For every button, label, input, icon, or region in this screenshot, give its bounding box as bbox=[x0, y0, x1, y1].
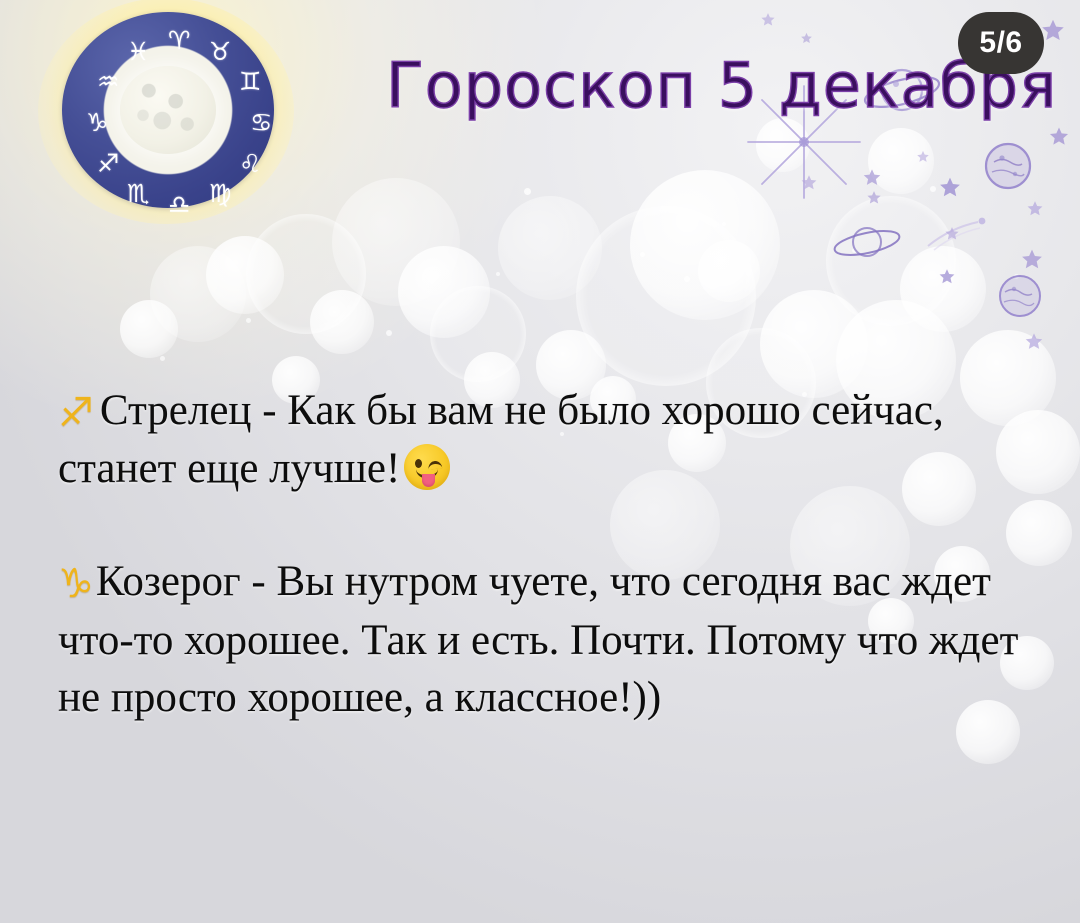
capricorn-paragraph: ♑Козерог - Вы нутром чуете, что сегодня … bbox=[58, 553, 1043, 726]
comet-icon bbox=[926, 216, 996, 252]
star-icon bbox=[938, 176, 962, 200]
capricorn-name: Козерог bbox=[96, 558, 241, 605]
sagittarius-separator: - bbox=[251, 387, 287, 434]
zodiac-symbol: ♍ bbox=[209, 181, 231, 206]
star-icon bbox=[800, 174, 818, 192]
zodiac-wheel-logo: ♈ ♉ ♊ ♋ ♌ ♍ ♎ ♏ ♐ ♑ ♒ ♓ bbox=[44, 6, 288, 216]
winking-face-with-tongue-icon bbox=[404, 444, 450, 490]
capricorn-separator: - bbox=[241, 558, 277, 605]
planet-icon bbox=[982, 140, 1034, 192]
star-icon bbox=[760, 12, 776, 28]
zodiac-symbol: ♒ bbox=[97, 69, 119, 94]
emoji-eye bbox=[415, 459, 422, 468]
star-icon bbox=[1048, 126, 1070, 148]
star-icon bbox=[1020, 248, 1044, 272]
star-icon bbox=[800, 32, 813, 45]
sign-block-capricorn: ♑Козерог - Вы нутром чуете, что сегодня … bbox=[58, 553, 1043, 726]
zodiac-symbol: ♓ bbox=[127, 39, 149, 64]
capricorn-icon: ♑ bbox=[58, 561, 94, 607]
sagittarius-paragraph: ♐Стрелец - Как бы вам не было хорошо сей… bbox=[58, 382, 1043, 497]
star-icon bbox=[1026, 200, 1044, 218]
star-icon bbox=[938, 268, 956, 286]
zodiac-symbol: ♎ bbox=[168, 192, 190, 217]
planet-icon bbox=[996, 272, 1044, 320]
zodiac-symbol: ♋ bbox=[250, 110, 272, 135]
star-icon bbox=[944, 226, 960, 242]
zodiac-symbol: ♊ bbox=[239, 69, 261, 94]
star-icon bbox=[1024, 332, 1044, 352]
ringed-planet-icon bbox=[826, 216, 908, 270]
zodiac-symbol: ♈ bbox=[168, 28, 190, 53]
zodiac-symbol: ♐ bbox=[97, 151, 119, 176]
emoji-tongue bbox=[422, 474, 435, 487]
zodiac-symbol: ♉ bbox=[209, 39, 231, 64]
star-icon bbox=[862, 168, 882, 188]
star-icon bbox=[866, 190, 882, 206]
sagittarius-icon: ♐ bbox=[58, 390, 94, 436]
star-icon bbox=[916, 150, 930, 164]
moon-icon bbox=[120, 66, 216, 154]
zodiac-symbol: ♑ bbox=[86, 110, 108, 135]
sagittarius-name: Стрелец bbox=[100, 387, 252, 434]
sign-block-sagittarius: ♐Стрелец - Как бы вам не было хорошо сей… bbox=[58, 382, 1043, 497]
page-title: Гороскоп 5 декабря bbox=[386, 54, 1058, 118]
horoscope-poster: ♈ ♉ ♊ ♋ ♌ ♍ ♎ ♏ ♐ ♑ ♒ ♓ Гороскоп 5 декаб… bbox=[0, 0, 1080, 923]
zodiac-ring: ♈ ♉ ♊ ♋ ♌ ♍ ♎ ♏ ♐ ♑ ♒ ♓ bbox=[62, 12, 274, 208]
zodiac-symbol: ♏ bbox=[127, 181, 149, 206]
page-counter-badge: 5/6 bbox=[958, 12, 1044, 74]
zodiac-symbol: ♌ bbox=[239, 151, 261, 176]
horoscope-content: ♐Стрелец - Как бы вам не было хорошо сей… bbox=[58, 382, 1043, 726]
